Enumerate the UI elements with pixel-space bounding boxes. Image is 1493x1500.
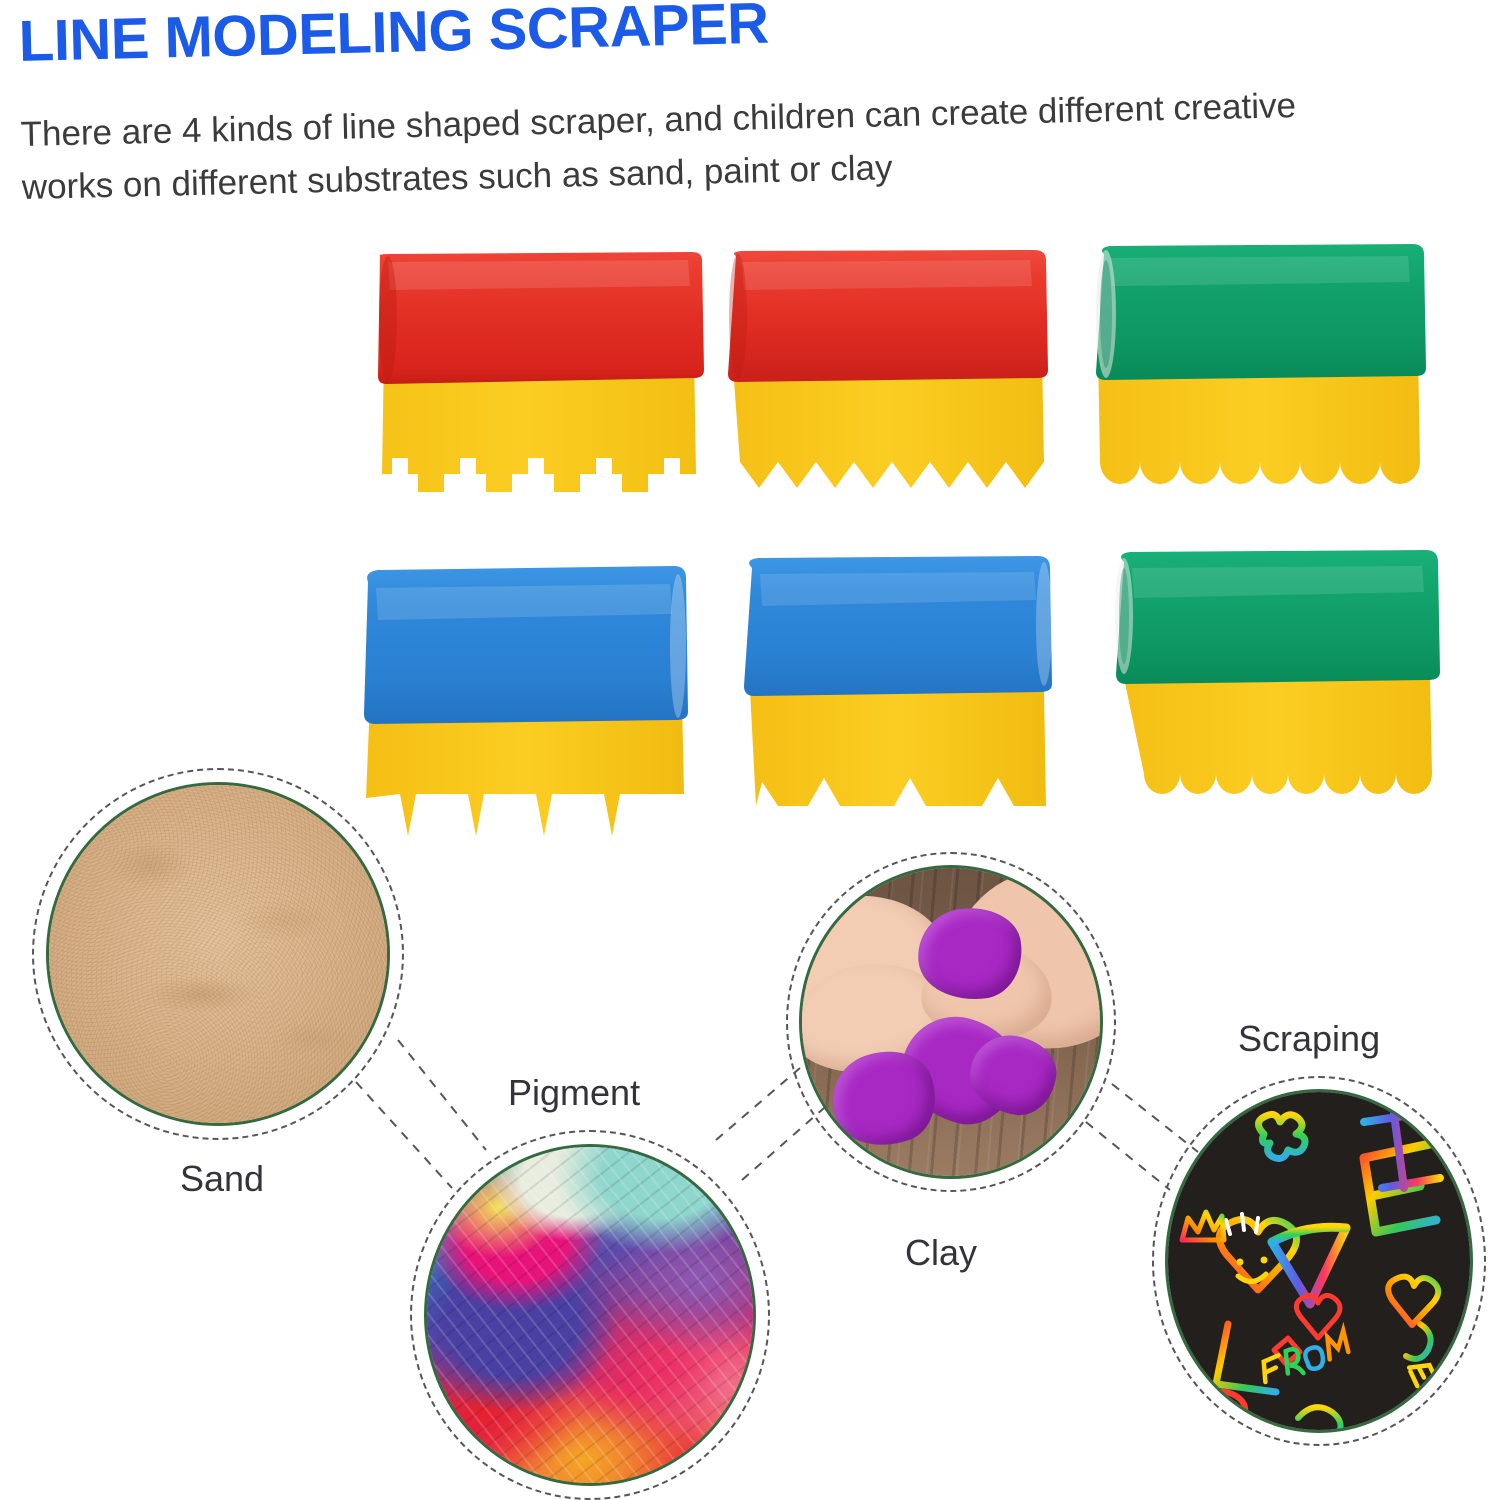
scratch-art-drawing xyxy=(1168,1092,1473,1433)
pigment-image xyxy=(424,1144,756,1486)
infographic-root: LINE MODELING SCRAPER There are 4 kinds … xyxy=(0,0,1493,1500)
substrate-clay xyxy=(786,852,1116,1192)
substrate-scraping xyxy=(1152,1076,1486,1446)
scraper-2 xyxy=(722,250,1052,510)
scraping-image xyxy=(1165,1089,1473,1433)
substrate-pigment xyxy=(410,1130,770,1500)
scraper-6 xyxy=(1100,550,1448,822)
scraper-5 xyxy=(722,556,1058,828)
scraper-4 xyxy=(362,566,694,842)
scraper-1 xyxy=(376,252,706,510)
clay-label: Clay xyxy=(905,1232,977,1274)
scraper-6-blade xyxy=(1124,678,1432,794)
sand-image xyxy=(46,782,390,1126)
scraper-3 xyxy=(1078,244,1428,506)
page-title: LINE MODELING SCRAPER xyxy=(18,0,769,75)
pigment-label: Pigment xyxy=(508,1072,640,1114)
clay-image xyxy=(799,865,1103,1179)
scraper-5-blade xyxy=(750,690,1046,806)
scraping-label: Scraping xyxy=(1238,1018,1380,1060)
sand-label: Sand xyxy=(180,1158,264,1200)
page-subtitle: There are 4 kinds of line shaped scraper… xyxy=(20,77,1382,214)
substrate-sand xyxy=(32,768,404,1140)
